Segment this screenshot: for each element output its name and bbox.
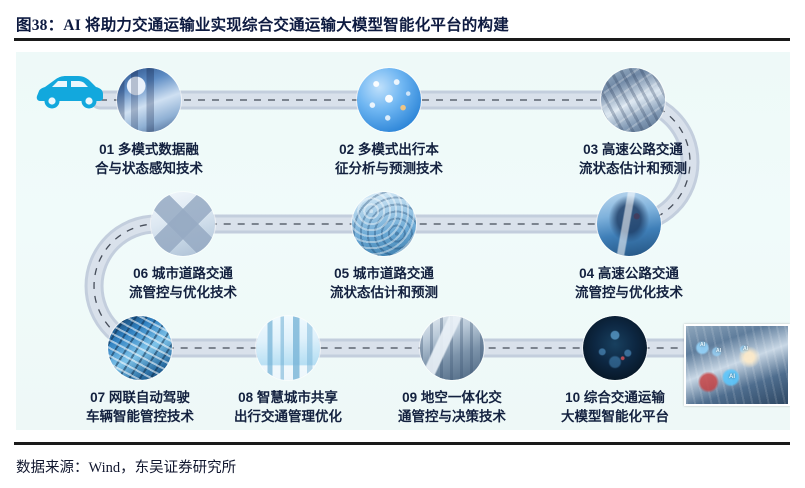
node-label-06: 06 城市道路交通 流管控与优化技术 [103, 264, 263, 302]
node-label-02-line1: 02 多模式出行本 [309, 140, 469, 159]
node-02[interactable] [357, 68, 421, 132]
node-label-04: 04 高速公路交通 流管控与优化技术 [549, 264, 709, 302]
node-label-07: 07 网联自动驾驶 车辆智能管控技术 [60, 388, 220, 426]
source-divider [14, 442, 790, 445]
node-label-08: 08 智慧城市共享 出行交通管理优化 [208, 388, 368, 426]
diagram-panel: AI AI AI AI 01 多模式数据融 合与状态感知技术 02 多模式出行本… [16, 52, 790, 430]
node-09[interactable] [420, 316, 484, 380]
node-07[interactable] [108, 316, 172, 380]
node-05[interactable] [352, 192, 416, 256]
node-label-03-line2: 流状态估计和预测 [553, 159, 713, 178]
highway-traffic-icon [601, 68, 665, 132]
node-label-09-line1: 09 地空一体化交 [372, 388, 532, 407]
ai-badge-3: AI [743, 346, 748, 352]
node-label-01-line1: 01 多模式数据融 [69, 140, 229, 159]
node-label-10: 10 综合交通运输 大模型智能化平台 [535, 388, 695, 426]
smart-city-icon [256, 316, 320, 380]
node-01[interactable] [117, 68, 181, 132]
control-room-icon [117, 68, 181, 132]
city-flow-icon [352, 192, 416, 256]
title-divider-top [14, 38, 790, 41]
node-label-04-line2: 流管控与优化技术 [549, 283, 709, 302]
node-label-07-line1: 07 网联自动驾驶 [60, 388, 220, 407]
node-label-05: 05 城市道路交通 流状态估计和预测 [304, 264, 464, 302]
drone-air-ground-icon [420, 316, 484, 380]
connected-vehicles-icon [108, 316, 172, 380]
figure-title: 图38：AI 将助力交通运输业实现综合交通运输大模型智能化平台的构建 [16, 13, 509, 35]
node-label-06-line2: 流管控与优化技术 [103, 283, 263, 302]
node-label-01-line2: 合与状态感知技术 [69, 159, 229, 178]
node-label-10-line2: 大模型智能化平台 [535, 407, 695, 426]
ai-smart-transport-photo: AI AI AI AI [684, 324, 790, 406]
node-label-09: 09 地空一体化交 通管控与决策技术 [372, 388, 532, 426]
node-label-08-line1: 08 智慧城市共享 [208, 388, 368, 407]
node-label-08-line2: 出行交通管理优化 [208, 407, 368, 426]
node-label-04-line1: 04 高速公路交通 [549, 264, 709, 283]
junction-icon [151, 192, 215, 256]
node-04[interactable] [597, 192, 661, 256]
source-note: 数据来源：Wind，东吴证券研究所 [16, 456, 236, 477]
car-icon [34, 70, 106, 114]
node-label-09-line2: 通管控与决策技术 [372, 407, 532, 426]
node-10[interactable] [583, 316, 647, 380]
globe-mobility-icon [357, 68, 421, 132]
node-03[interactable] [601, 68, 665, 132]
node-label-03: 03 高速公路交通 流状态估计和预测 [553, 140, 713, 178]
ai-badge-2: AI [716, 348, 721, 354]
node-label-06-line1: 06 城市道路交通 [103, 264, 263, 283]
node-08[interactable] [256, 316, 320, 380]
node-06[interactable] [151, 192, 215, 256]
node-label-03-line1: 03 高速公路交通 [553, 140, 713, 159]
node-label-07-line2: 车辆智能管控技术 [60, 407, 220, 426]
ai-badge-1: AI [700, 342, 705, 348]
night-highway-icon [597, 192, 661, 256]
node-label-02: 02 多模式出行本 征分析与预测技术 [309, 140, 469, 178]
node-label-10-line1: 10 综合交通运输 [535, 388, 695, 407]
node-label-01: 01 多模式数据融 合与状态感知技术 [69, 140, 229, 178]
node-label-05-line1: 05 城市道路交通 [304, 264, 464, 283]
node-label-02-line2: 征分析与预测技术 [309, 159, 469, 178]
ai-badge-4: AI [729, 374, 735, 380]
node-label-05-line2: 流状态估计和预测 [304, 283, 464, 302]
ai-platform-icon [583, 316, 647, 380]
